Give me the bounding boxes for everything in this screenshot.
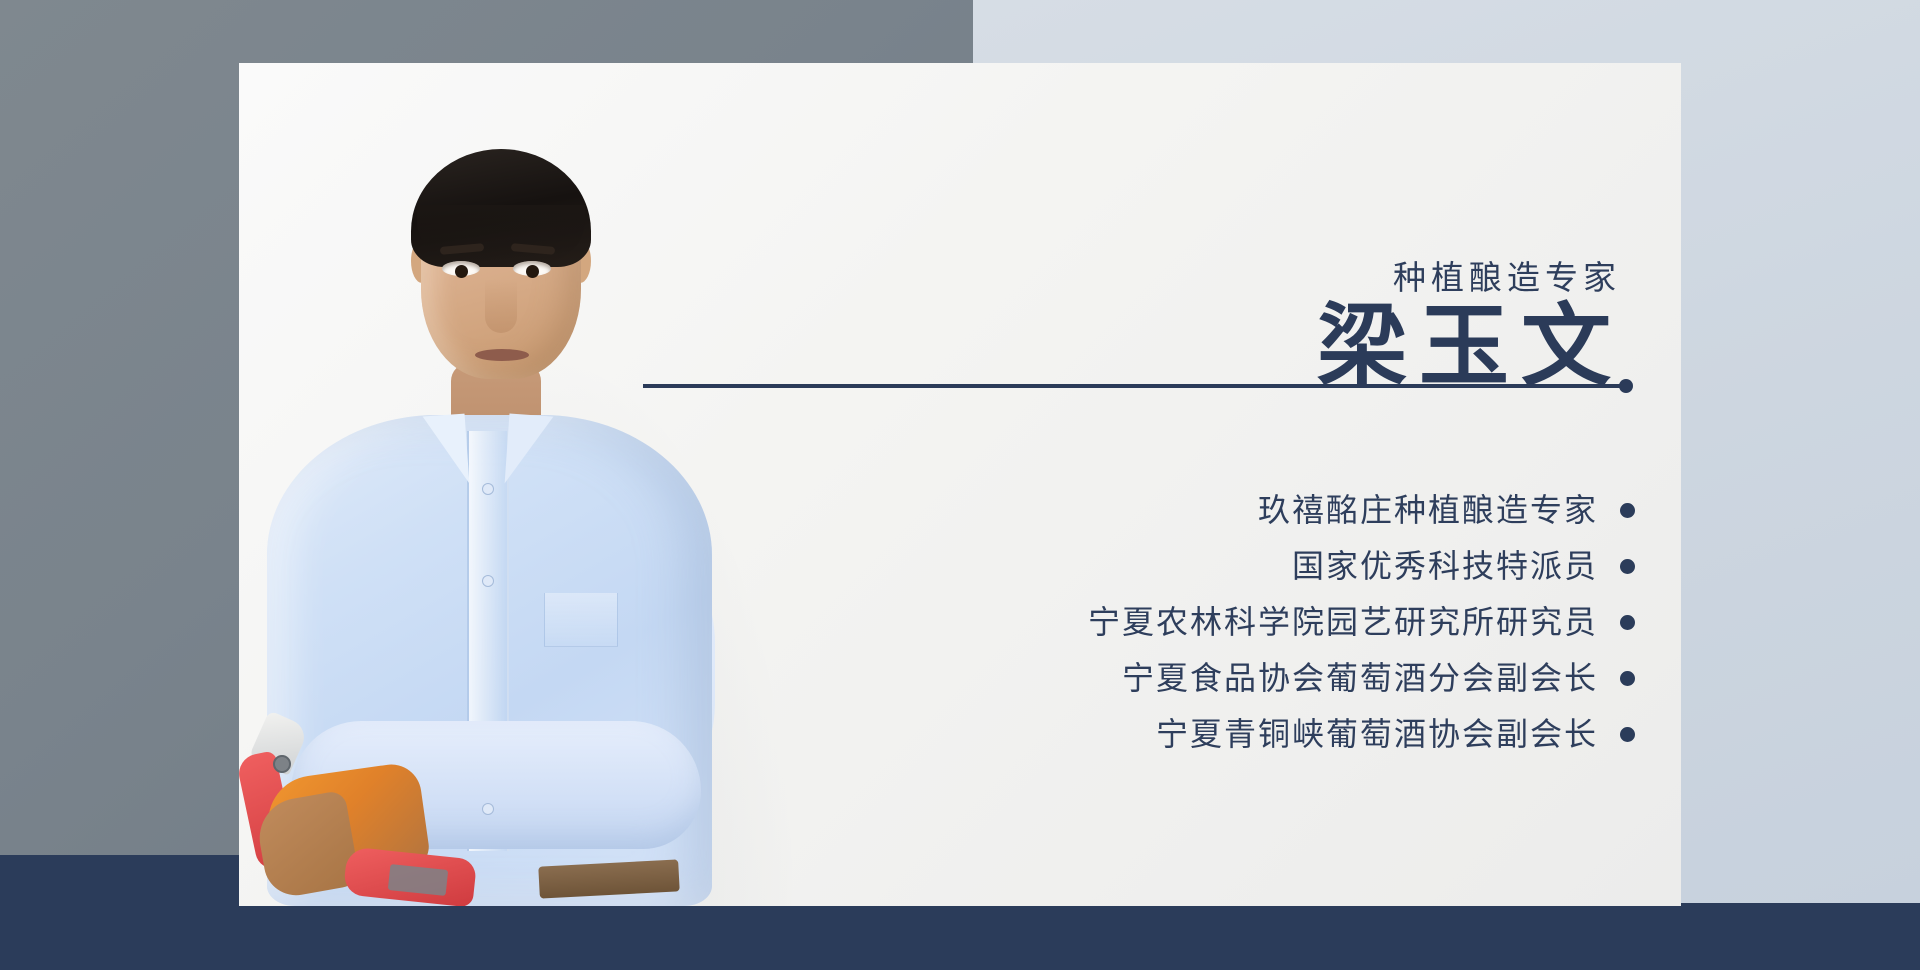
pupil-left [455,265,468,278]
bullet-dot-icon [1620,727,1635,742]
portrait-shadow [279,346,799,906]
person-name: 梁玉文 [1317,301,1623,396]
work-glove [262,761,431,888]
list-item: 国家优秀科技特派员 [875,549,1635,583]
shirt-button [482,483,494,495]
horizontal-rule-end-dot [1619,379,1633,393]
credential-text: 国家优秀科技特派员 [1292,550,1598,582]
credential-text: 宁夏食品协会葡萄酒分会副会长 [1122,662,1598,694]
credential-text: 宁夏农林科学院园艺研究所研究员 [1088,606,1598,638]
profile-card: 种植酿造专家 梁玉文 玖禧酩庄种植酿造专家 国家优秀科技特派员 宁夏农林科学院园… [239,63,1681,906]
crossed-forearms [291,721,701,849]
pupil-right [526,265,539,278]
eyebrow-right [511,243,556,255]
hair [411,149,591,267]
belt [538,859,679,898]
mouth [475,349,529,361]
credentials-list: 玖禧酩庄种植酿造专家 国家优秀科技特派员 宁夏农林科学院园艺研究所研究员 宁夏食… [875,493,1635,751]
role-title: 种植酿造专家 [1393,251,1621,299]
horizontal-rule [643,384,1625,388]
credential-text: 宁夏青铜峡葡萄酒协会副会长 [1156,718,1598,750]
eye-right [513,261,551,276]
left-arm [271,525,483,811]
shirt-pocket [544,593,618,647]
bullet-dot-icon [1620,615,1635,630]
list-item: 宁夏食品协会葡萄酒分会副会长 [875,661,1635,695]
credential-text: 玖禧酩庄种植酿造专家 [1258,494,1598,526]
background-band-navy-right [973,903,1920,970]
right-arm [497,525,715,811]
work-glove-fingers [253,790,360,901]
list-item: 玖禧酩庄种植酿造专家 [875,493,1635,527]
shirt-button [482,803,494,815]
eyebrow-left [440,243,485,255]
shirt-torso [267,415,712,906]
shirt-placket [467,431,509,851]
poster-canvas: 种植酿造专家 梁玉文 玖禧酩庄种植酿造专家 国家优秀科技特派员 宁夏农林科学院园… [0,0,1920,970]
pruning-shear-pivot [273,755,291,773]
portrait-photo [239,63,839,906]
face [421,167,581,379]
nose [485,279,517,333]
ear-left [411,239,433,283]
ear-right [569,239,591,283]
pruning-shear-grip [343,846,477,906]
pruning-shear-blade [248,710,309,775]
list-item: 宁夏农林科学院园艺研究所研究员 [875,605,1635,639]
pruning-shear-handle [239,750,299,872]
bullet-dot-icon [1620,671,1635,686]
bullet-dot-icon [1620,559,1635,574]
shirt-collar-right [505,414,554,487]
shirt-button [482,575,494,587]
neck [451,363,541,453]
bullet-dot-icon [1620,503,1635,518]
shirt-collar-left [423,414,470,487]
list-item: 宁夏青铜峡葡萄酒协会副会长 [875,717,1635,751]
pruning-shear-label [388,864,448,896]
eye-left [442,261,480,276]
